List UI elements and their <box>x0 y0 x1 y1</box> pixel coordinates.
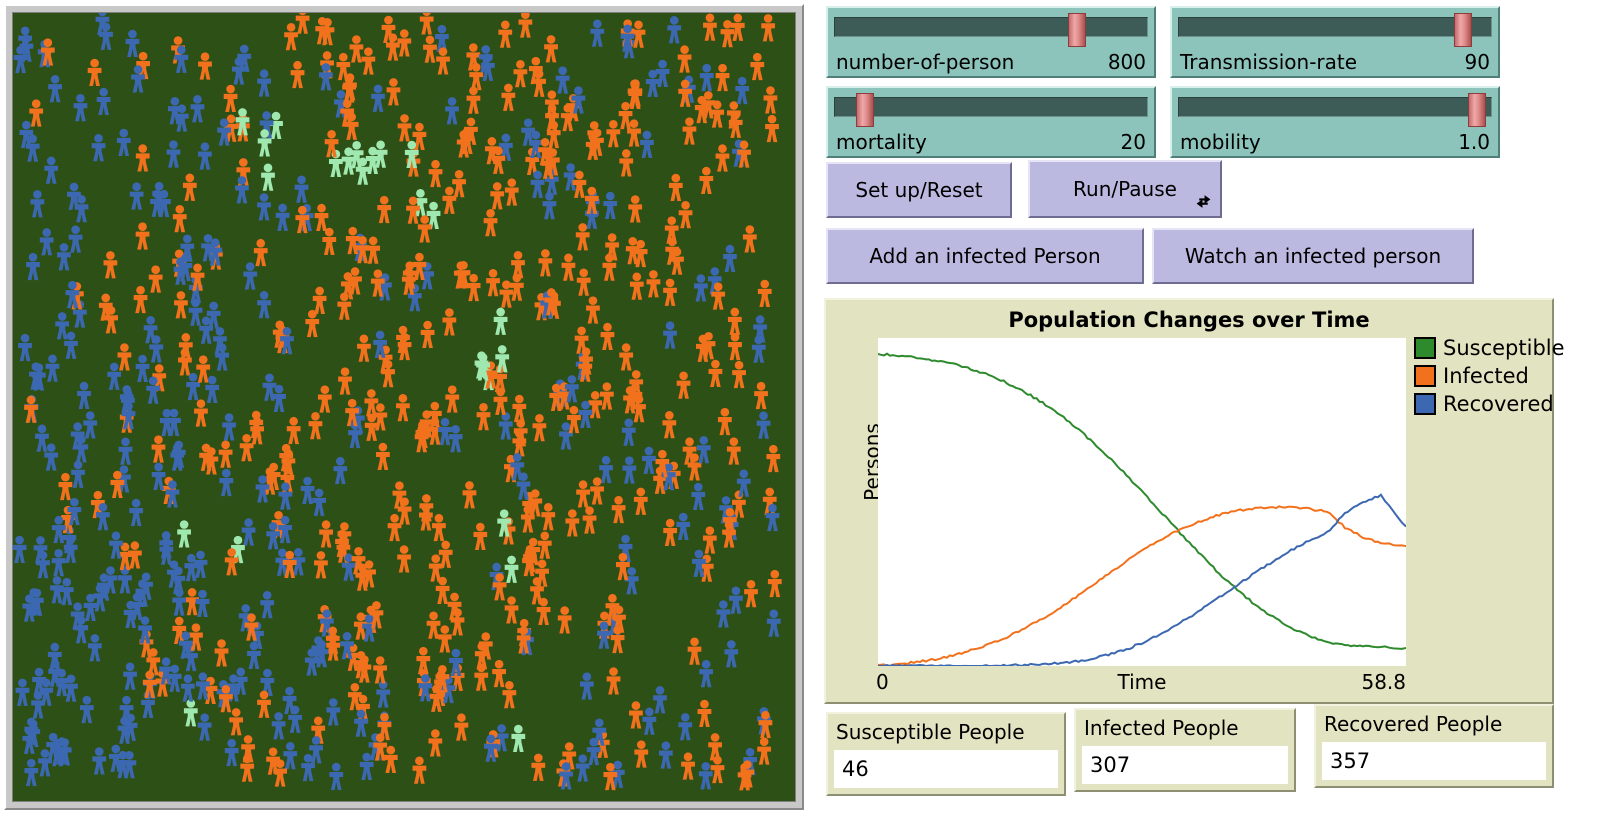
plot-title: Population Changes over Time <box>826 308 1552 332</box>
monitor-label: Recovered People <box>1324 712 1502 736</box>
x-axis-max-tick: 58.8 <box>1316 670 1406 694</box>
legend-label-infected: Infected <box>1443 364 1529 388</box>
setup-reset-label: Set up/Reset <box>855 178 982 202</box>
setup-reset-button[interactable]: Set up/Reset <box>826 162 1012 218</box>
agent-layer <box>13 13 795 801</box>
monitor-susceptible-people[interactable]: Susceptible People 46 <box>826 712 1066 796</box>
watch-infected-person-label: Watch an infected person <box>1185 244 1441 268</box>
control-panel: number-of-person 800 Transmission-rate 9… <box>820 0 1608 840</box>
plot-line-susceptible <box>878 354 1406 649</box>
legend-swatch-susceptible <box>1414 337 1436 359</box>
watch-infected-person-button[interactable]: Watch an infected person <box>1152 228 1474 284</box>
monitor-value: 357 <box>1322 742 1546 780</box>
slider-track <box>1178 97 1492 117</box>
slider-track-area[interactable] <box>834 13 1148 41</box>
monitor-recovered-people[interactable]: Recovered People 357 <box>1314 704 1554 788</box>
plot-canvas <box>878 338 1406 666</box>
world-canvas[interactable] <box>12 12 796 802</box>
slider-track <box>834 97 1148 117</box>
legend-item-recovered[interactable]: Recovered <box>1414 392 1565 416</box>
slider-footer: mortality 20 <box>828 128 1154 156</box>
slider-track-area[interactable] <box>834 93 1148 121</box>
slider-footer: number-of-person 800 <box>828 48 1154 76</box>
slider-track <box>834 17 1148 37</box>
monitor-value: 307 <box>1082 746 1288 784</box>
monitor-value: 46 <box>834 750 1058 788</box>
slider-thumb[interactable] <box>1068 13 1086 47</box>
plot-series-layer <box>878 338 1406 666</box>
slider-label: Transmission-rate <box>1180 50 1357 74</box>
slider-footer: mobility 1.0 <box>1172 128 1498 156</box>
monitor-label: Infected People <box>1084 716 1239 740</box>
plot-line-recovered <box>878 495 1406 666</box>
slider-thumb[interactable] <box>1454 13 1472 47</box>
slider-value: 800 <box>1108 50 1146 74</box>
slider-transmission-rate[interactable]: Transmission-rate 90 <box>1170 6 1500 78</box>
population-plot-panel[interactable]: Population Changes over Time 800 0 Perso… <box>824 298 1554 704</box>
forever-loop-icon <box>1195 193 1212 210</box>
world-view-panel[interactable] <box>4 4 804 810</box>
slider-label: mobility <box>1180 130 1261 154</box>
slider-thumb[interactable] <box>1468 93 1486 127</box>
slider-value: 1.0 <box>1458 130 1490 154</box>
slider-thumb[interactable] <box>856 93 874 127</box>
monitor-label: Susceptible People <box>836 720 1025 744</box>
monitor-infected-people[interactable]: Infected People 307 <box>1074 708 1296 792</box>
slider-track-area[interactable] <box>1178 93 1492 121</box>
slider-track <box>1178 17 1492 37</box>
legend-swatch-recovered <box>1414 393 1436 415</box>
run-pause-button[interactable]: Run/Pause <box>1028 160 1222 218</box>
slider-track-area[interactable] <box>1178 13 1492 41</box>
legend-item-infected[interactable]: Infected <box>1414 364 1565 388</box>
legend-label-recovered: Recovered <box>1443 392 1554 416</box>
slider-label: mortality <box>836 130 927 154</box>
add-infected-person-label: Add an infected Person <box>869 244 1100 268</box>
slider-footer: Transmission-rate 90 <box>1172 48 1498 76</box>
slider-label: number-of-person <box>836 50 1014 74</box>
slider-value: 20 <box>1121 130 1146 154</box>
legend-label-susceptible: Susceptible <box>1443 336 1565 360</box>
legend-swatch-infected <box>1414 365 1436 387</box>
slider-number-of-person[interactable]: number-of-person 800 <box>826 6 1156 78</box>
slider-mortality[interactable]: mortality 20 <box>826 86 1156 158</box>
run-pause-label: Run/Pause <box>1073 177 1177 201</box>
legend-item-susceptible[interactable]: Susceptible <box>1414 336 1565 360</box>
slider-value: 90 <box>1465 50 1490 74</box>
add-infected-person-button[interactable]: Add an infected Person <box>826 228 1144 284</box>
plot-legend: Susceptible Infected Recovered <box>1414 336 1565 420</box>
slider-mobility[interactable]: mobility 1.0 <box>1170 86 1500 158</box>
